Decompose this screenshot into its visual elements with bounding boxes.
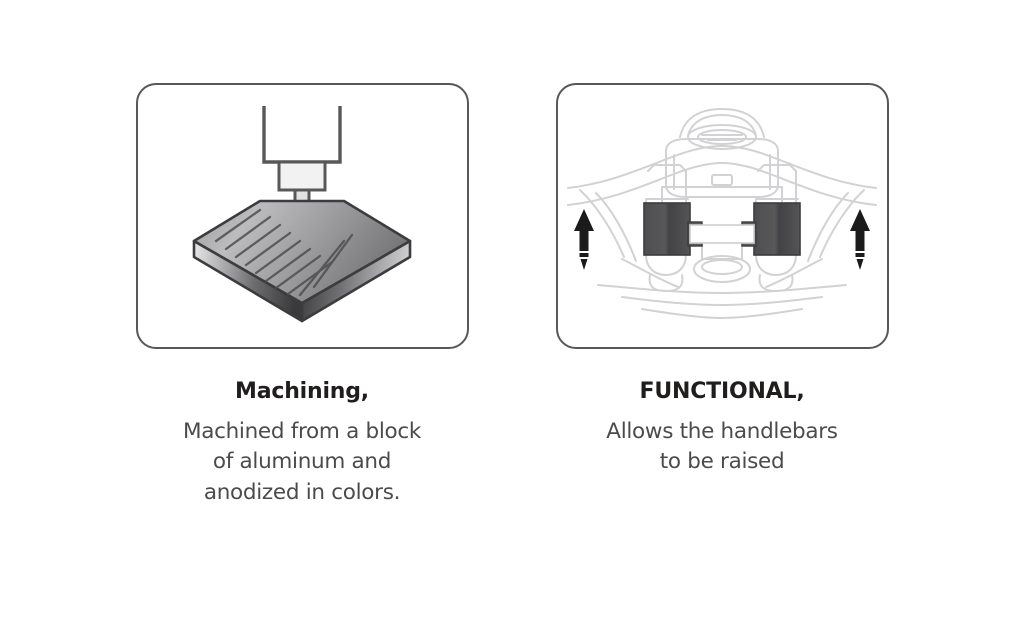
- feature-heading-machining: Machining,: [132, 378, 472, 406]
- icon-card-functional: [556, 83, 889, 349]
- features-row: Machining, Machined from a block of alum…: [0, 0, 1024, 508]
- feature-body-line: to be raised: [552, 447, 892, 478]
- cnc-machining-icon: [142, 89, 462, 344]
- feature-text-machining: Machining, Machined from a block of alum…: [132, 378, 472, 508]
- feature-column-machining: Machining, Machined from a block of alum…: [135, 83, 470, 508]
- workpiece-block: [194, 201, 410, 321]
- feature-heading-functional: FUNCTIONAL,: [552, 378, 892, 406]
- riser-crossbar: [690, 225, 754, 243]
- feature-body-functional: Allows the handlebars to be raised: [552, 417, 892, 478]
- feature-body-line: of aluminum and: [132, 447, 472, 478]
- feature-text-functional: FUNCTIONAL, Allows the handlebars to be …: [552, 378, 892, 478]
- handlebar-lineart: [568, 109, 876, 318]
- handlebar-riser-icon: [562, 89, 882, 344]
- feature-column-functional: FUNCTIONAL, Allows the handlebars to be …: [555, 83, 890, 478]
- feature-body-line: Machined from a block: [132, 417, 472, 448]
- icon-card-machining: [136, 83, 469, 349]
- feature-body-line: anodized in colors.: [132, 478, 472, 509]
- arrow-up-left-icon: [574, 209, 594, 270]
- feature-body-machining: Machined from a block of aluminum and an…: [132, 417, 472, 509]
- feature-highlights-page: Machining, Machined from a block of alum…: [0, 0, 1024, 626]
- feature-body-line: Allows the handlebars: [552, 417, 892, 448]
- spindle-collet: [279, 162, 325, 190]
- arrow-up-right-icon: [850, 209, 870, 270]
- spindle-bracket: [264, 106, 340, 162]
